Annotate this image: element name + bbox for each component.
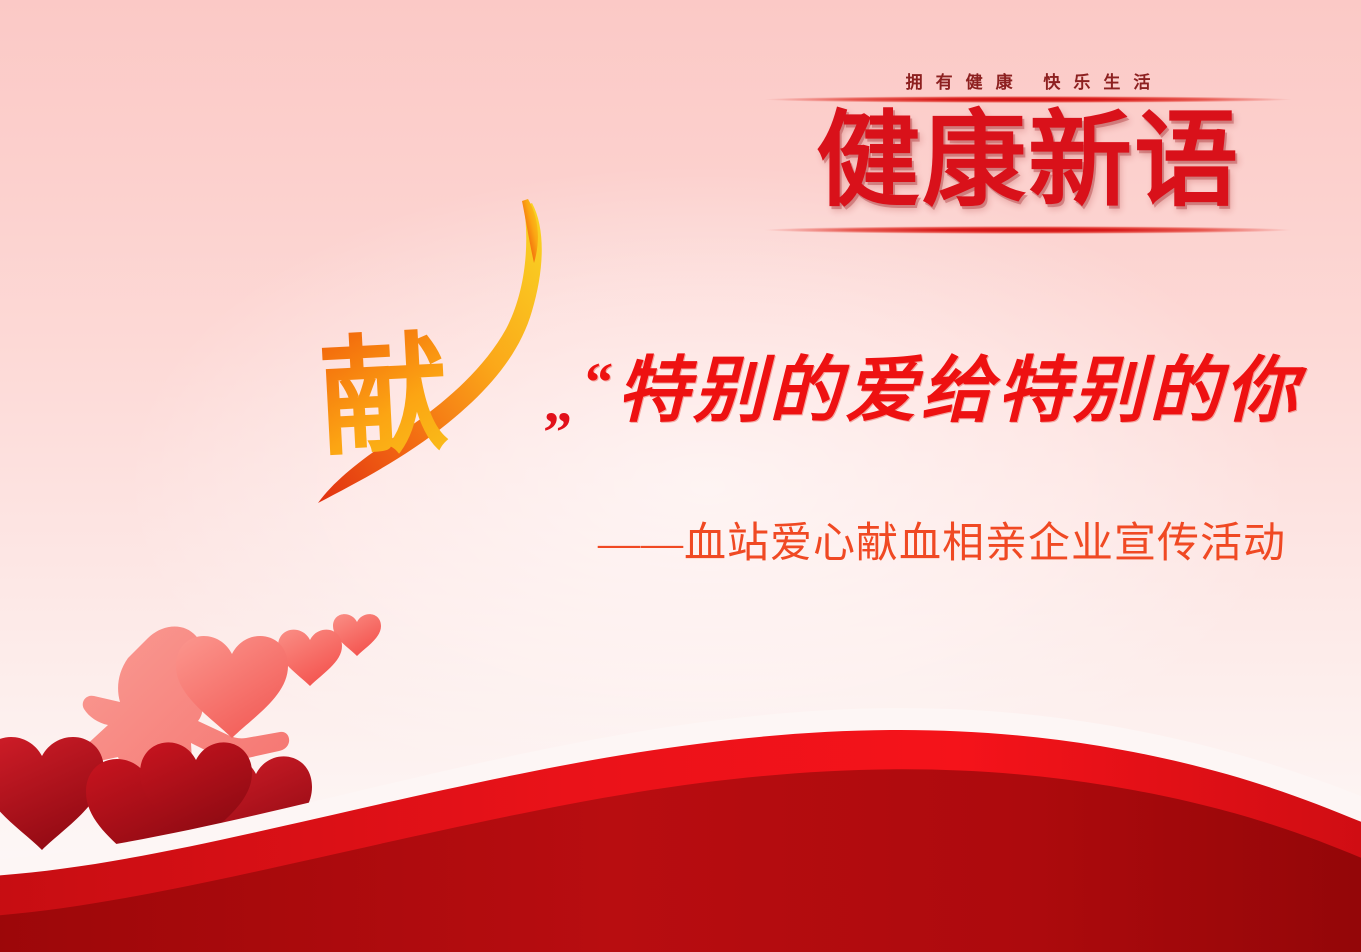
- calligraphy-artwork: [300, 185, 600, 525]
- masthead-rule-top: [764, 96, 1292, 103]
- slogan-quote-open: “: [585, 352, 617, 414]
- bottom-decoration: [0, 560, 1361, 952]
- floating-hearts: [278, 614, 381, 686]
- masthead-tagline: 拥有健康 快乐生活: [762, 68, 1294, 93]
- slogan: “特别的爱给特别的你: [585, 337, 1265, 429]
- blood-donation-poster: 拥有健康 快乐生活 健康新语 献血 “特别的爱给特别的你 ” ——: [0, 0, 1361, 952]
- slogan-quote-close: ”: [543, 404, 572, 462]
- masthead: 拥有健康 快乐生活 健康新语: [762, 62, 1294, 237]
- masthead-title: 健康新语: [762, 106, 1294, 218]
- slogan-text: 特别的爱给特别的你: [617, 351, 1301, 431]
- masthead-rule-bottom: [764, 226, 1292, 234]
